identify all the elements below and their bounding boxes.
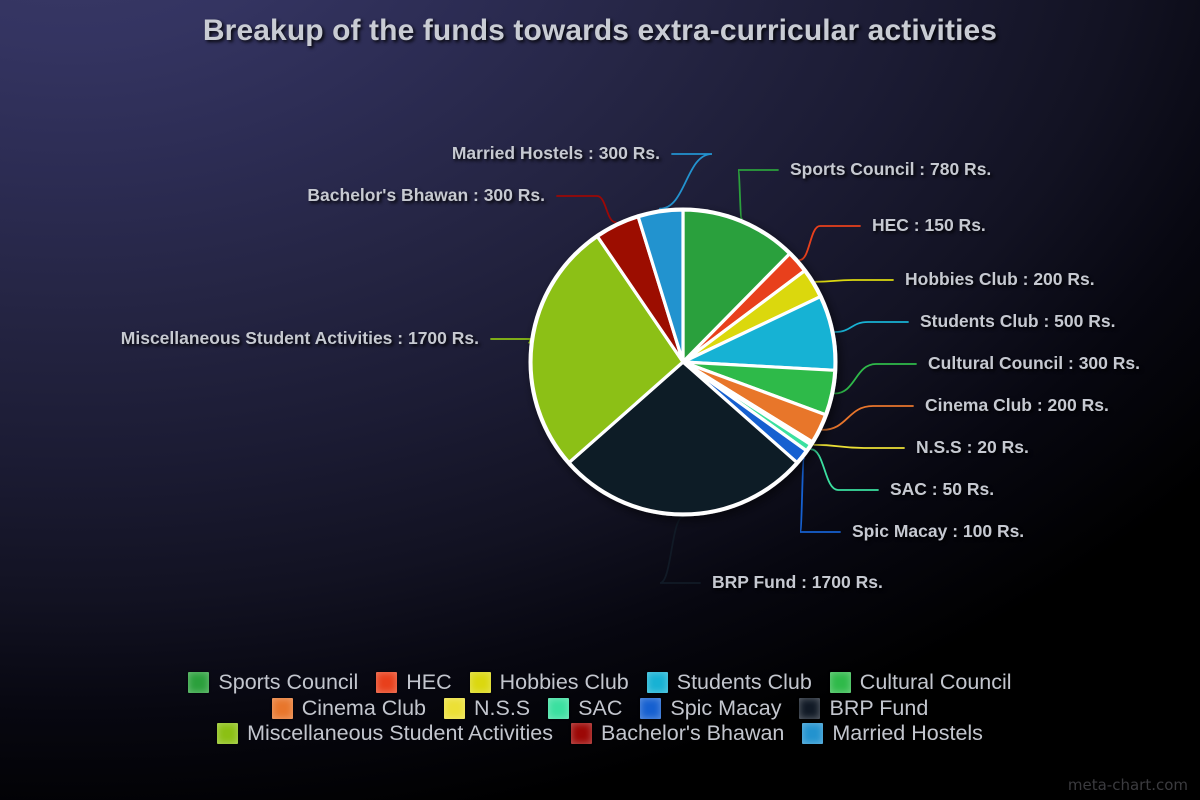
legend-item[interactable]: Hobbies Club — [470, 672, 629, 694]
leader-line-bachelors_bhawan — [557, 196, 616, 222]
callout-label-misc_activities: Miscellaneous Student Activities : 1700 … — [31, 328, 479, 349]
legend-row: Sports CouncilHECHobbies ClubStudents Cl… — [188, 672, 1011, 694]
legend-item-label: BRP Fund — [829, 698, 928, 720]
legend-swatch-icon — [217, 723, 238, 744]
callout-label-sports_council: Sports Council : 780 Rs. — [790, 159, 1050, 180]
leader-line-hec — [800, 226, 860, 260]
legend-item[interactable]: BRP Fund — [799, 698, 928, 720]
legend-item-label: N.S.S — [474, 698, 530, 720]
legend-swatch-icon — [188, 672, 209, 693]
legend-swatch-icon — [571, 723, 592, 744]
legend-item[interactable]: Sports Council — [188, 672, 358, 694]
legend: Sports CouncilHECHobbies ClubStudents Cl… — [0, 672, 1200, 745]
legend-item[interactable]: Married Hostels — [802, 723, 983, 745]
legend-item-label: SAC — [578, 698, 622, 720]
callout-label-students_club: Students Club : 500 Rs. — [920, 311, 1170, 332]
callout-label-cinema_club: Cinema Club : 200 Rs. — [925, 395, 1165, 416]
legend-item-label: Bachelor's Bhawan — [601, 723, 784, 745]
legend-item-label: Cultural Council — [860, 672, 1012, 694]
leader-line-cinema_club — [822, 406, 913, 430]
legend-swatch-icon — [799, 698, 820, 719]
leader-line-students_club — [835, 322, 908, 332]
legend-row: Cinema ClubN.S.SSACSpic MacayBRP Fund — [272, 698, 929, 720]
legend-item[interactable]: Cinema Club — [272, 698, 426, 720]
legend-item[interactable]: N.S.S — [444, 698, 530, 720]
watermark: meta-chart.com — [1068, 776, 1188, 794]
leader-line-sac — [811, 449, 878, 490]
chart-canvas: Breakup of the funds towards extra-curri… — [0, 0, 1200, 800]
legend-item[interactable]: Students Club — [647, 672, 812, 694]
legend-item-label: Students Club — [677, 672, 812, 694]
leader-line-sports_council — [738, 170, 778, 219]
legend-item[interactable]: SAC — [548, 698, 622, 720]
legend-item-label: Cinema Club — [302, 698, 426, 720]
legend-swatch-icon — [272, 698, 293, 719]
callout-label-bachelors_bhawan: Bachelor's Bhawan : 300 Rs. — [248, 185, 545, 206]
callout-label-brp_fund: BRP Fund : 1700 Rs. — [712, 572, 942, 593]
callout-label-spic_macay: Spic Macay : 100 Rs. — [852, 521, 1082, 542]
leader-line-misc_activities — [491, 339, 531, 343]
legend-swatch-icon — [376, 672, 397, 693]
callout-label-nss: N.S.S : 20 Rs. — [916, 437, 1086, 458]
legend-swatch-icon — [647, 672, 668, 693]
legend-item-label: Miscellaneous Student Activities — [247, 723, 553, 745]
legend-item[interactable]: Spic Macay — [640, 698, 781, 720]
callout-label-married_hostels: Married Hostels : 300 Rs. — [375, 143, 660, 164]
legend-item[interactable]: Miscellaneous Student Activities — [217, 723, 553, 745]
leader-line-nss — [814, 445, 904, 448]
legend-item[interactable]: HEC — [376, 672, 451, 694]
legend-swatch-icon — [830, 672, 851, 693]
callout-label-hec: HEC : 150 Rs. — [872, 215, 1032, 236]
leader-line-brp_fund — [660, 517, 700, 583]
legend-item-label: HEC — [406, 672, 451, 694]
legend-item[interactable]: Bachelor's Bhawan — [571, 723, 784, 745]
leader-line-hobbies_club — [816, 280, 893, 282]
legend-swatch-icon — [548, 698, 569, 719]
legend-item-label: Hobbies Club — [500, 672, 629, 694]
legend-swatch-icon — [470, 672, 491, 693]
callout-label-sac: SAC : 50 Rs. — [890, 479, 1040, 500]
legend-swatch-icon — [802, 723, 823, 744]
leader-line-spic_macay — [800, 459, 840, 532]
legend-row: Miscellaneous Student ActivitiesBachelor… — [217, 723, 983, 745]
leader-line-married_hostels — [660, 154, 712, 209]
legend-item-label: Spic Macay — [670, 698, 781, 720]
legend-item-label: Married Hostels — [832, 723, 983, 745]
callout-label-cultural_council: Cultural Council : 300 Rs. — [928, 353, 1193, 374]
callout-label-hobbies_club: Hobbies Club : 200 Rs. — [905, 269, 1155, 290]
pie-slices-group — [529, 208, 838, 517]
legend-item-label: Sports Council — [218, 672, 358, 694]
legend-swatch-icon — [640, 698, 661, 719]
leader-line-cultural_council — [835, 364, 916, 394]
legend-swatch-icon — [444, 698, 465, 719]
legend-item[interactable]: Cultural Council — [830, 672, 1012, 694]
